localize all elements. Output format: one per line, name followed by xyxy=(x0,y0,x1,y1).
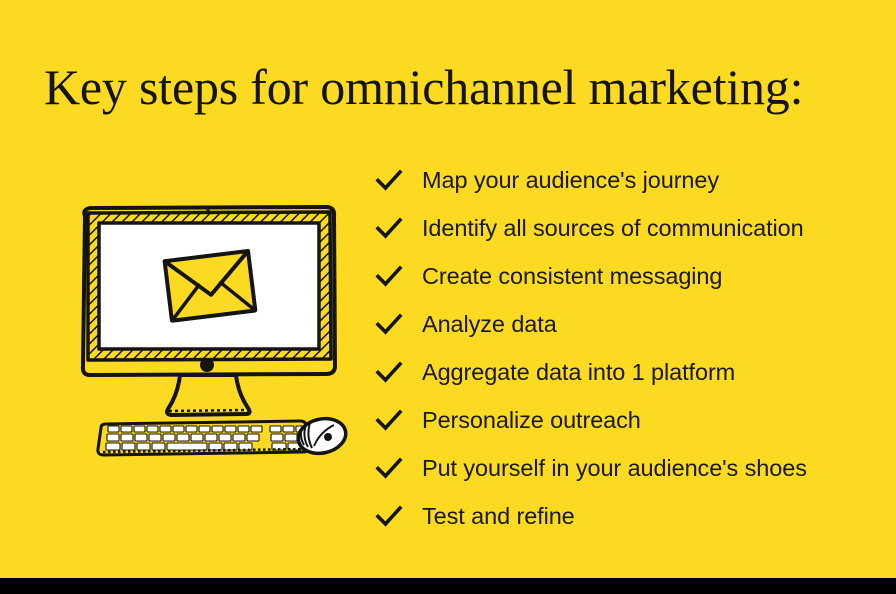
check-icon xyxy=(374,405,404,435)
list-item-label: Aggregate data into 1 platform xyxy=(422,358,735,386)
check-icon xyxy=(374,453,404,483)
list-item-label: Personalize outreach xyxy=(422,406,641,434)
list-item: Test and refine xyxy=(374,492,874,540)
list-item: Aggregate data into 1 platform xyxy=(374,348,874,396)
list-item: Create consistent messaging xyxy=(374,252,874,300)
check-icon xyxy=(374,357,404,387)
monitor-indicator-dot xyxy=(200,358,214,372)
keyboard xyxy=(98,421,309,455)
list-item-label: Identify all sources of communication xyxy=(422,214,804,242)
list-item-label: Test and refine xyxy=(422,502,575,530)
check-icon xyxy=(374,261,404,291)
list-item-label: Create consistent messaging xyxy=(422,262,722,290)
checklist: Map your audience's journey Identify all… xyxy=(374,156,874,540)
list-item: Map your audience's journey xyxy=(374,156,874,204)
monitor-stand xyxy=(167,375,250,415)
list-item-label: Analyze data xyxy=(422,310,557,338)
check-icon xyxy=(374,165,404,195)
envelope-icon xyxy=(165,251,256,321)
check-icon xyxy=(374,501,404,531)
list-item: Personalize outreach xyxy=(374,396,874,444)
bottom-bar xyxy=(0,578,896,594)
list-item: Put yourself in your audience's shoes xyxy=(374,444,874,492)
poster-canvas: Key steps for omnichannel marketing: xyxy=(0,0,896,594)
list-item-label: Put yourself in your audience's shoes xyxy=(422,454,807,482)
page-title: Key steps for omnichannel marketing: xyxy=(44,58,864,116)
desktop-computer-email-illustration xyxy=(58,196,358,466)
check-icon xyxy=(374,213,404,243)
check-icon xyxy=(374,309,404,339)
list-item: Identify all sources of communication xyxy=(374,204,874,252)
list-item: Analyze data xyxy=(374,300,874,348)
list-item-label: Map your audience's journey xyxy=(422,166,719,194)
